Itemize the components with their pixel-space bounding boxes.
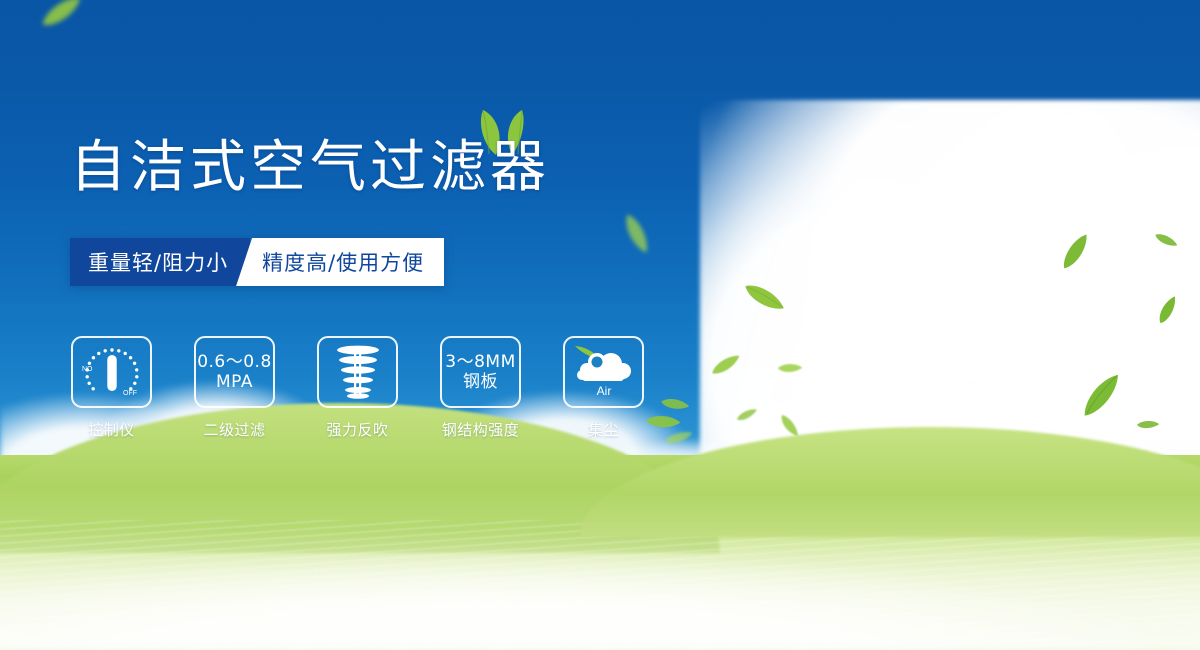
grass-field (0, 455, 1200, 650)
blowback-box (317, 336, 398, 408)
gauge-label-off: OFF (123, 390, 137, 397)
leaf-icon (659, 394, 692, 416)
tagline-badge: 重量轻/阻力小 精度高/使用方便 (70, 238, 444, 286)
pressure-line-1: 0.6～0.8 (197, 352, 272, 372)
tagline-left: 重量轻/阻力小 (70, 238, 250, 286)
feature-item-steel[interactable]: 3～8MM 钢板 钢结构强度 (439, 336, 522, 440)
steel-line-2: 钢板 (445, 372, 515, 392)
leaf-icon (644, 411, 682, 433)
gauge-icon: NO OFF (81, 344, 143, 400)
steel-plate-box: 3～8MM 钢板 (440, 336, 521, 408)
leaf-icon (1075, 370, 1130, 422)
feature-label: 钢结构强度 (442, 419, 520, 440)
leaf-icon (708, 352, 745, 379)
leaf-icon (1152, 229, 1180, 253)
feature-label: 控制仪 (88, 419, 135, 440)
product-banner: 自洁式空气过滤器 重量轻/阻力小 精度高/使用方便 (0, 0, 1200, 650)
steel-line-1: 3～8MM (445, 352, 515, 372)
air-label: Air (596, 384, 611, 398)
leaf-icon (1055, 230, 1096, 273)
feature-label: 二级过滤 (203, 419, 265, 440)
feature-list: NO OFF 控制仪 0.6～0.8 MPA 二级过滤 (70, 336, 645, 440)
page-title: 自洁式空气过滤器 (70, 140, 550, 196)
feature-label: 集尘 (588, 419, 619, 440)
gauge-label-no: NO (82, 366, 93, 373)
leaf-icon (776, 361, 803, 376)
tagline-right: 精度高/使用方便 (236, 238, 444, 286)
leaf-icon (621, 210, 652, 257)
pressure-box: 0.6～0.8 MPA (194, 336, 275, 408)
pressure-line-2: MPA (197, 372, 272, 392)
feature-label: 强力反吹 (326, 419, 388, 440)
leaf-icon (1153, 293, 1184, 327)
leaf-icon (36, 0, 88, 32)
cloud-air-box: Air (563, 336, 644, 408)
leaf-icon (740, 276, 789, 320)
feature-item-blowback[interactable]: 强力反吹 (316, 336, 399, 440)
feature-item-filter[interactable]: 0.6～0.8 MPA 二级过滤 (193, 336, 276, 440)
grass-texture (0, 520, 1200, 650)
feature-item-dust[interactable]: Air 集尘 (562, 336, 645, 440)
cloud-air-icon: Air (573, 344, 635, 400)
leaf-icon (734, 407, 760, 424)
gauge-box: NO OFF (71, 336, 152, 408)
feature-item-control[interactable]: NO OFF 控制仪 (70, 336, 153, 440)
leaf-icon (1136, 419, 1161, 431)
blowback-coil-icon (330, 343, 386, 401)
